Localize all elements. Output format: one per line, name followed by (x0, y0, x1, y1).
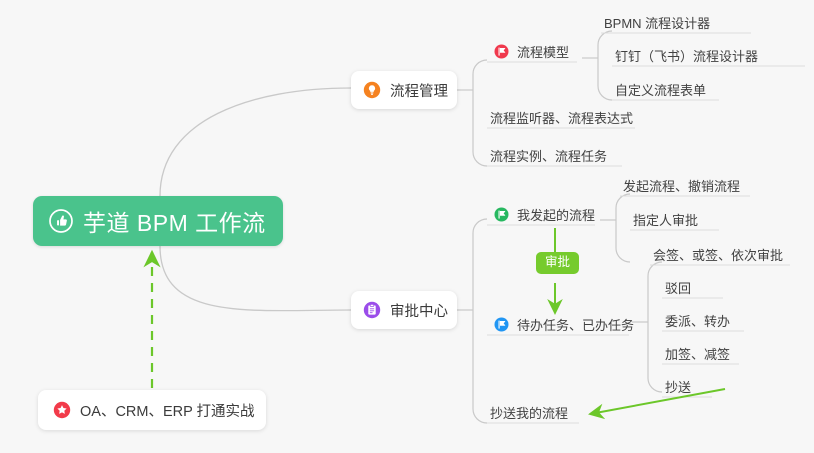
annotation-tag-approval[interactable]: 审批 (536, 252, 579, 274)
leaf-node-start-cancel-process[interactable]: 发起流程、撤销流程 (623, 176, 740, 200)
branch-node-approval-center[interactable]: 审批中心 (351, 291, 457, 329)
leaf-node-process-instance[interactable]: 流程实例、流程任务 (490, 146, 607, 170)
branch-label: 流程管理 (390, 80, 448, 101)
flag-icon (494, 207, 509, 222)
leaf-node-cc-to-me[interactable]: 抄送我的流程 (490, 403, 568, 427)
footer-card-label: OA、CRM、ERP 打通实战 (80, 400, 255, 421)
branch-node-flow-management[interactable]: 流程管理 (351, 71, 457, 109)
mindmap-canvas: 芋道 BPM 工作流 流程管理 流程模型 BPMN 流程设计器 钉钉（飞书）流程… (0, 0, 814, 453)
leaf-node-countersign[interactable]: 会签、或签、依次审批 (653, 245, 783, 269)
flag-icon (494, 317, 509, 332)
leaf-node-custom-form[interactable]: 自定义流程表单 (615, 80, 706, 104)
footer-card-integration[interactable]: OA、CRM、ERP 打通实战 (38, 390, 266, 430)
leaf-node-process-listener[interactable]: 流程监听器、流程表达式 (490, 108, 633, 132)
clipboard-icon (363, 301, 381, 319)
leaf-node-delegate-transfer[interactable]: 委派、转办 (665, 311, 730, 335)
leaf-node-reject[interactable]: 驳回 (665, 278, 691, 302)
branch-label: 审批中心 (390, 300, 448, 321)
sub-node-my-initiated[interactable]: 我发起的流程 (494, 205, 595, 229)
flag-icon (494, 44, 509, 59)
leaf-node-dingtalk-designer[interactable]: 钉钉（飞书）流程设计器 (615, 46, 758, 70)
leaf-node-assignee-approval[interactable]: 指定人审批 (633, 210, 698, 234)
leaf-node-cc[interactable]: 抄送 (665, 377, 691, 401)
thumbs-up-icon (49, 209, 73, 233)
leaf-node-add-remove-sign[interactable]: 加签、减签 (665, 344, 730, 368)
root-label: 芋道 BPM 工作流 (83, 204, 266, 238)
root-node[interactable]: 芋道 BPM 工作流 (33, 196, 283, 246)
star-icon (53, 401, 71, 419)
lightbulb-icon (363, 81, 381, 99)
sub-node-todo-done-tasks[interactable]: 待办任务、已办任务 (494, 315, 634, 339)
sub-node-process-model[interactable]: 流程模型 (494, 42, 569, 66)
sub-node-label: 流程模型 (517, 42, 569, 61)
sub-node-label: 待办任务、已办任务 (517, 315, 634, 334)
leaf-node-bpmn-designer[interactable]: BPMN 流程设计器 (604, 13, 710, 37)
sub-node-label: 我发起的流程 (517, 205, 595, 224)
